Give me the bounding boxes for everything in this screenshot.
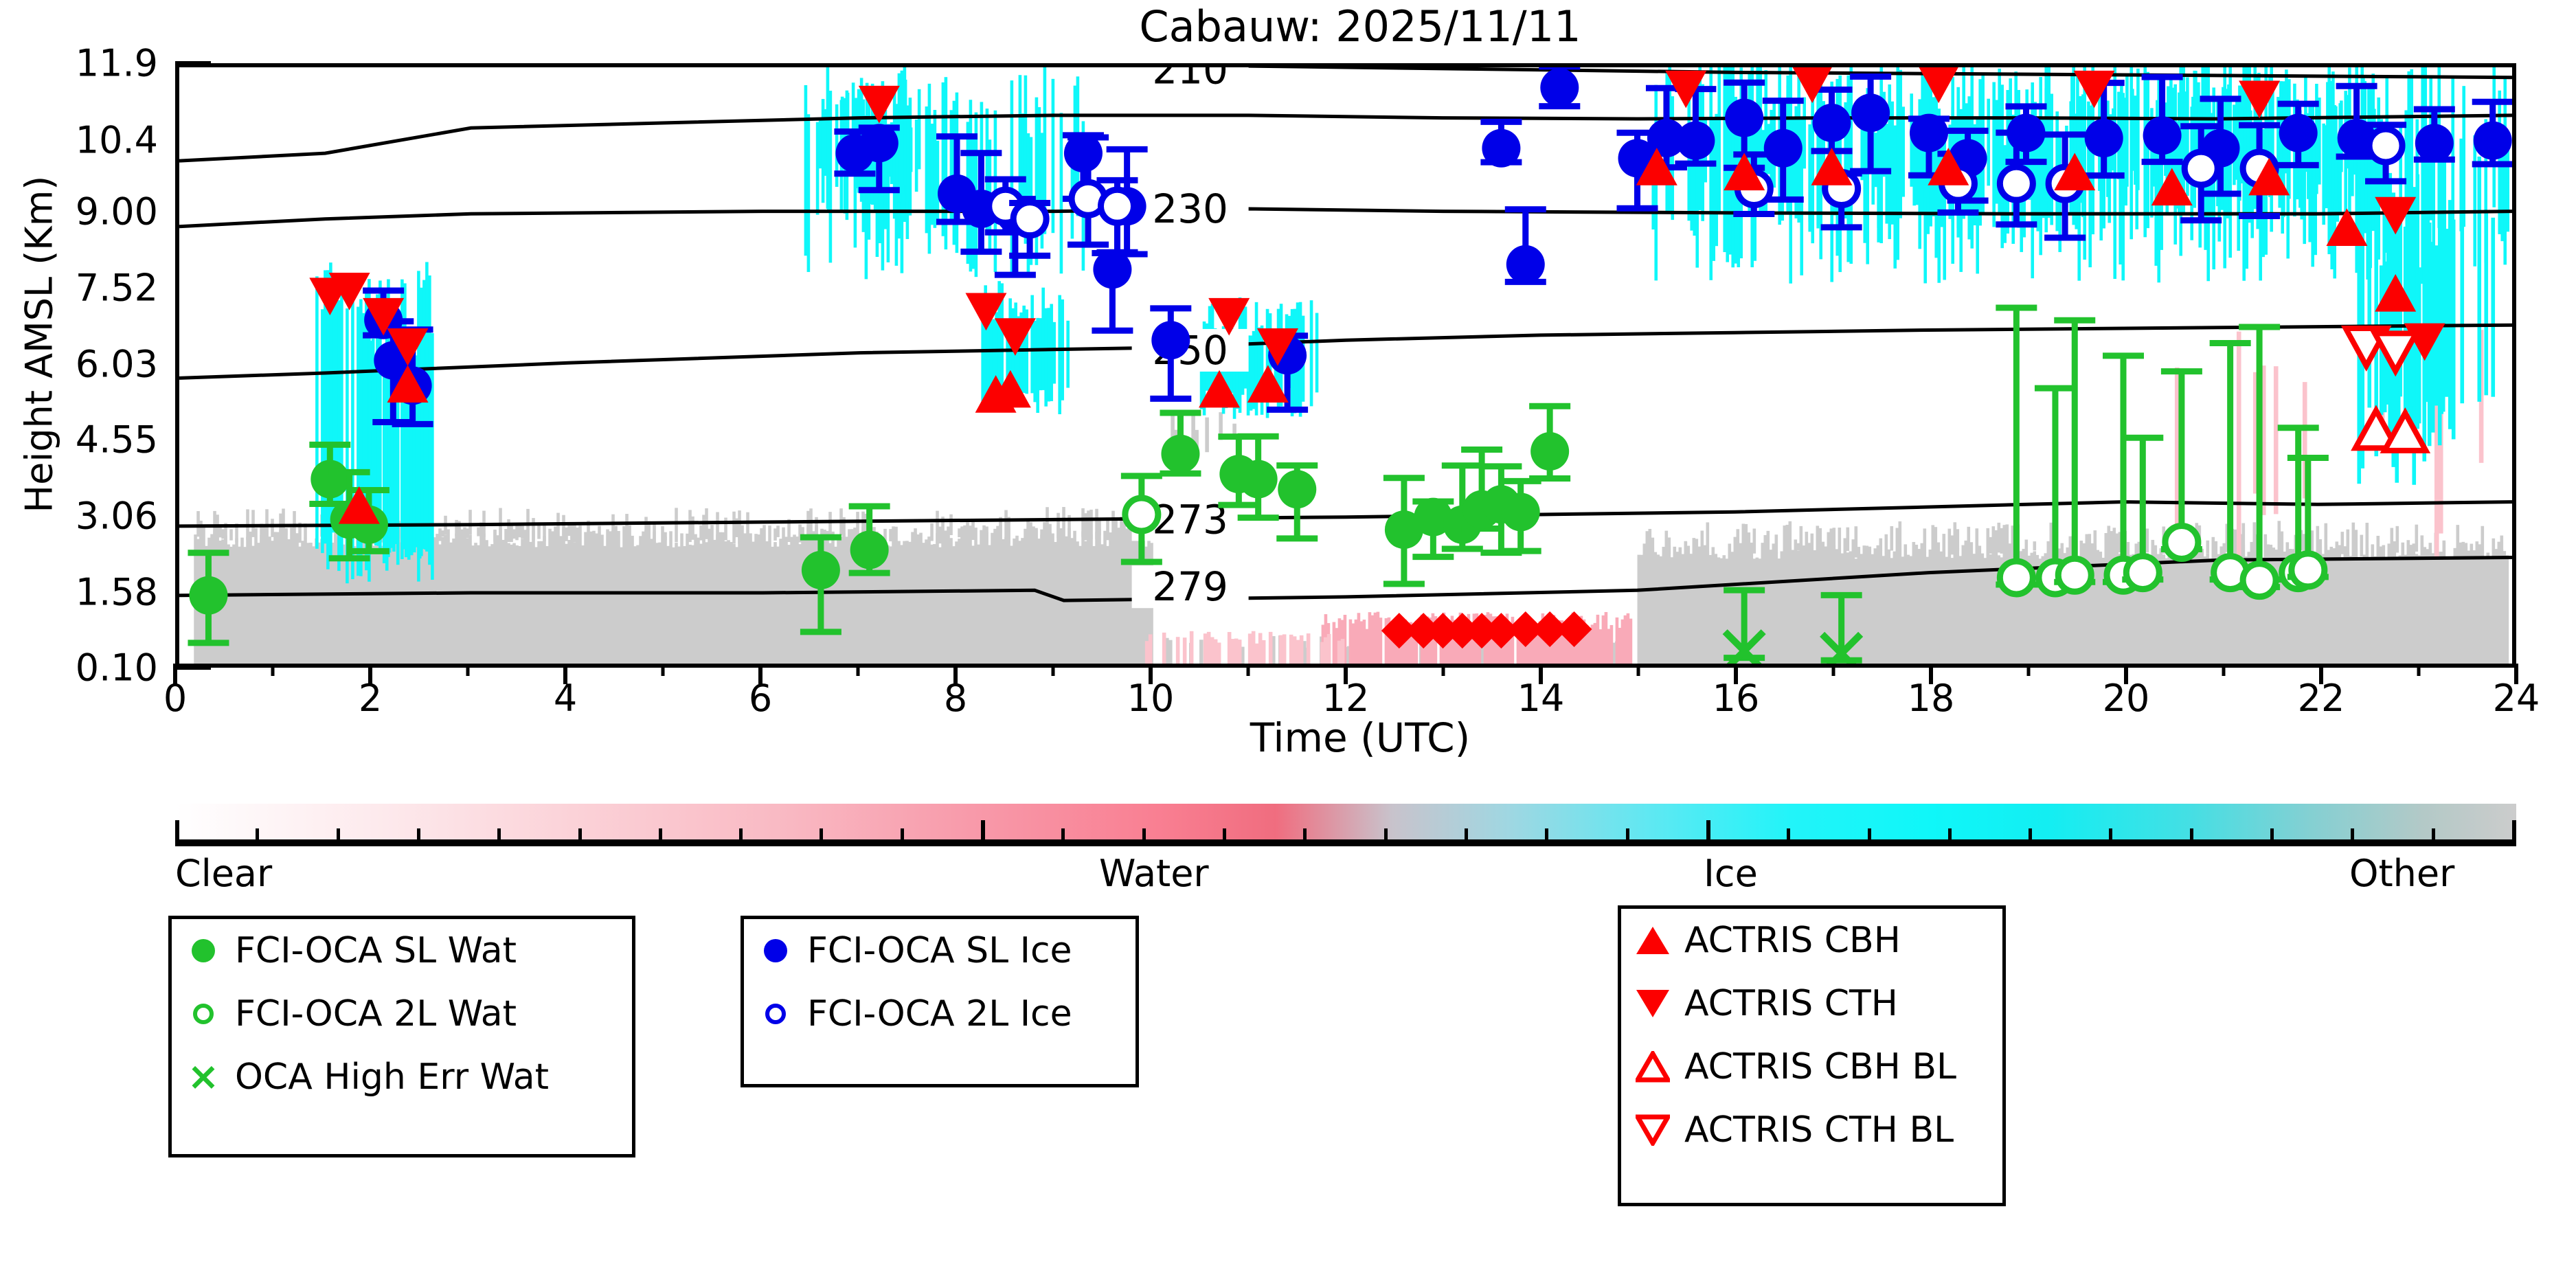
y-tick-label: 1.58 [76, 570, 158, 613]
colorbar-gradient [175, 804, 2516, 839]
colorbar-tick [2029, 828, 2032, 839]
colorbar-tick [1626, 828, 1629, 839]
circle-filled-icon [184, 939, 223, 962]
legend-item-label: ACTRIS CTH BL [1684, 1109, 1954, 1151]
data-point-circle-filled [189, 576, 227, 615]
colorbar-tick [2512, 820, 2516, 839]
circle-filled-icon [756, 939, 795, 962]
data-point-circle-filled [2279, 114, 2318, 152]
data-point-circle-open [2243, 564, 2276, 597]
colorbar-tick [1465, 828, 1468, 839]
legend-item[interactable]: FCI-OCA SL Ice [744, 919, 1136, 982]
legend-item[interactable]: ACTRIS CBH BL [1621, 1035, 2002, 1098]
data-point-circle-filled [2085, 119, 2123, 157]
colorbar-axis-line [175, 839, 2516, 846]
colorbar-tick [2109, 828, 2112, 839]
colorbar-tick [497, 828, 501, 839]
y-tick-label: 6.03 [76, 342, 158, 385]
data-point-circle-filled [2143, 116, 2182, 155]
contour-label: 279 [1152, 563, 1228, 610]
colorbar-tick [1868, 828, 1871, 839]
data-point-circle-filled [310, 460, 349, 499]
data-point-circle-open [2184, 152, 2217, 185]
ice-legend: FCI-OCA SL IceFCI-OCA 2L Ice [741, 916, 1139, 1087]
colorbar-label-ice: Ice [1704, 852, 1758, 895]
legend-item[interactable]: ACTRIS CTH [1621, 972, 2002, 1035]
legend-item[interactable]: FCI-OCA SL Wat [172, 919, 632, 982]
colorbar-tick [256, 828, 259, 839]
data-point-circle-filled [1239, 460, 1278, 499]
legend-item-label: ACTRIS CBH [1684, 920, 1901, 961]
legend-item-label: ACTRIS CTH [1684, 983, 1898, 1024]
colorbar-label-other: Other [2349, 852, 2454, 895]
triangle-down-filled-icon [1634, 990, 1672, 1017]
data-point-circle-filled [1482, 129, 1520, 168]
data-point-circle-open [1125, 498, 1158, 531]
colorbar-tick [2270, 828, 2274, 839]
data-point-circle-open [2292, 554, 2325, 587]
colorbar-tick [1384, 828, 1388, 839]
data-point-circle-filled [2415, 124, 2454, 162]
colorbar-tick [2190, 828, 2193, 839]
colorbar-tick [2432, 828, 2435, 839]
colorbar-tick [1706, 820, 1710, 839]
triangle-up-open-icon [1634, 1051, 1672, 1083]
water-legend: FCI-OCA SL WatFCI-OCA 2L Wat×OCA High Er… [168, 916, 635, 1157]
plot-canvas: 210230250273279 [179, 67, 2512, 664]
circle-open-icon [756, 1004, 795, 1024]
data-point-circle-filled [1910, 114, 1948, 152]
error-bar [2161, 372, 2202, 550]
colorbar-tick [1061, 828, 1065, 839]
legend-item[interactable]: ×OCA High Err Wat [172, 1046, 632, 1109]
colorbar-tick [1223, 828, 1226, 839]
colorbar-tick [2351, 828, 2354, 839]
data-point-circle-filled [860, 124, 899, 162]
data-point-circle-open [1013, 203, 1046, 236]
legend-item[interactable]: FCI-OCA 2L Wat [172, 982, 632, 1046]
colorbar-tick [337, 828, 340, 839]
contour-label: 273 [1152, 496, 1228, 543]
data-point-circle-filled [1530, 432, 1569, 471]
colorbar-tick [659, 828, 662, 839]
data-point-circle-filled [1676, 122, 1715, 160]
data-point-circle-filled [1502, 493, 1540, 531]
colorbar-tick [1142, 828, 1146, 839]
data-point-circle-filled [1851, 93, 1890, 132]
triangle-up-filled-icon [1634, 927, 1672, 954]
colorbar-tick [1303, 828, 1307, 839]
chart-figure: Cabauw: 2025/11/11 Height AMSL (Km) Time… [0, 0, 2576, 1288]
legend-item[interactable]: ACTRIS CTH BL [1621, 1098, 2002, 1162]
legend-item-label: OCA High Err Wat [235, 1057, 549, 1098]
legend-item-label: FCI-OCA SL Wat [235, 930, 517, 971]
y-tick-label: 3.06 [76, 495, 158, 538]
colorbar-tick [901, 828, 904, 839]
data-point-circle-filled [1813, 104, 1851, 142]
contour-label: 230 [1152, 185, 1228, 232]
colorbar-label-water: Water [1099, 852, 1209, 895]
data-point-circle-filled [802, 551, 840, 589]
data-point-circle-open [1100, 190, 1133, 223]
colorbar-tick [1545, 828, 1548, 839]
contour-label: 210 [1152, 67, 1228, 93]
legend-item-label: FCI-OCA 2L Wat [235, 993, 517, 1035]
data-point-circle-filled [2474, 122, 2512, 160]
y-tick-label: 11.9 [76, 42, 158, 85]
colorbar-tick [578, 828, 582, 839]
data-point-circle-filled [1764, 129, 1803, 168]
y-tick-label: 10.4 [76, 118, 158, 161]
y-tick-label: 7.52 [76, 266, 158, 309]
x-axis-label: Time (UTC) [1051, 714, 1669, 761]
colorbar-tick [175, 820, 179, 839]
data-point-circle-filled [1540, 68, 1579, 106]
legend-item[interactable]: FCI-OCA 2L Ice [744, 982, 1136, 1046]
colorbar-tick [981, 820, 985, 839]
triangle-down-open-icon [1634, 1114, 1672, 1146]
data-point-circle-open [2126, 556, 2159, 589]
data-point-circle-filled [850, 530, 889, 569]
y-tick-label: 9.00 [76, 190, 158, 234]
colorbar-tick [1787, 828, 1790, 839]
colorbar-label-clear: Clear [175, 852, 272, 895]
colorbar-tick [739, 828, 743, 839]
data-point-circle-filled [1725, 99, 1763, 137]
y-axis-label: Height AMSL (Km) [18, 190, 61, 513]
circle-open-icon [184, 1004, 223, 1024]
data-point-circle-open [2058, 558, 2091, 591]
y-tick-label: 4.55 [76, 418, 158, 462]
legend-item-label: FCI-OCA SL Ice [807, 930, 1072, 971]
x-cross-icon: × [184, 1061, 223, 1093]
y-tick-label: 0.10 [76, 646, 158, 690]
data-point-circle-open [2165, 526, 2198, 558]
data-point-circle-open [2369, 129, 2402, 162]
data-point-circle-filled [1506, 245, 1545, 284]
colorbar [175, 804, 2516, 842]
plot-area: 210230250273279 [175, 63, 2516, 668]
data-point-circle-filled [1161, 435, 1199, 473]
actris-legend: ACTRIS CBHACTRIS CTHACTRIS CBH BLACTRIS … [1618, 905, 2006, 1206]
colorbar-tick [820, 828, 823, 839]
data-point-circle-open [2000, 167, 2033, 200]
data-point-circle-filled [1278, 470, 1316, 508]
data-point-circle-open [2000, 561, 2033, 594]
legend-item-label: FCI-OCA 2L Ice [807, 993, 1072, 1035]
legend-item[interactable]: ACTRIS CBH [1621, 909, 2002, 972]
colorbar-tick [1948, 828, 1952, 839]
colorbar-tick [417, 828, 420, 839]
page-title: Cabauw: 2025/11/11 [1051, 1, 1669, 52]
legend-item-label: ACTRIS CBH BL [1684, 1046, 1956, 1087]
data-point-circle-filled [1151, 321, 1190, 359]
